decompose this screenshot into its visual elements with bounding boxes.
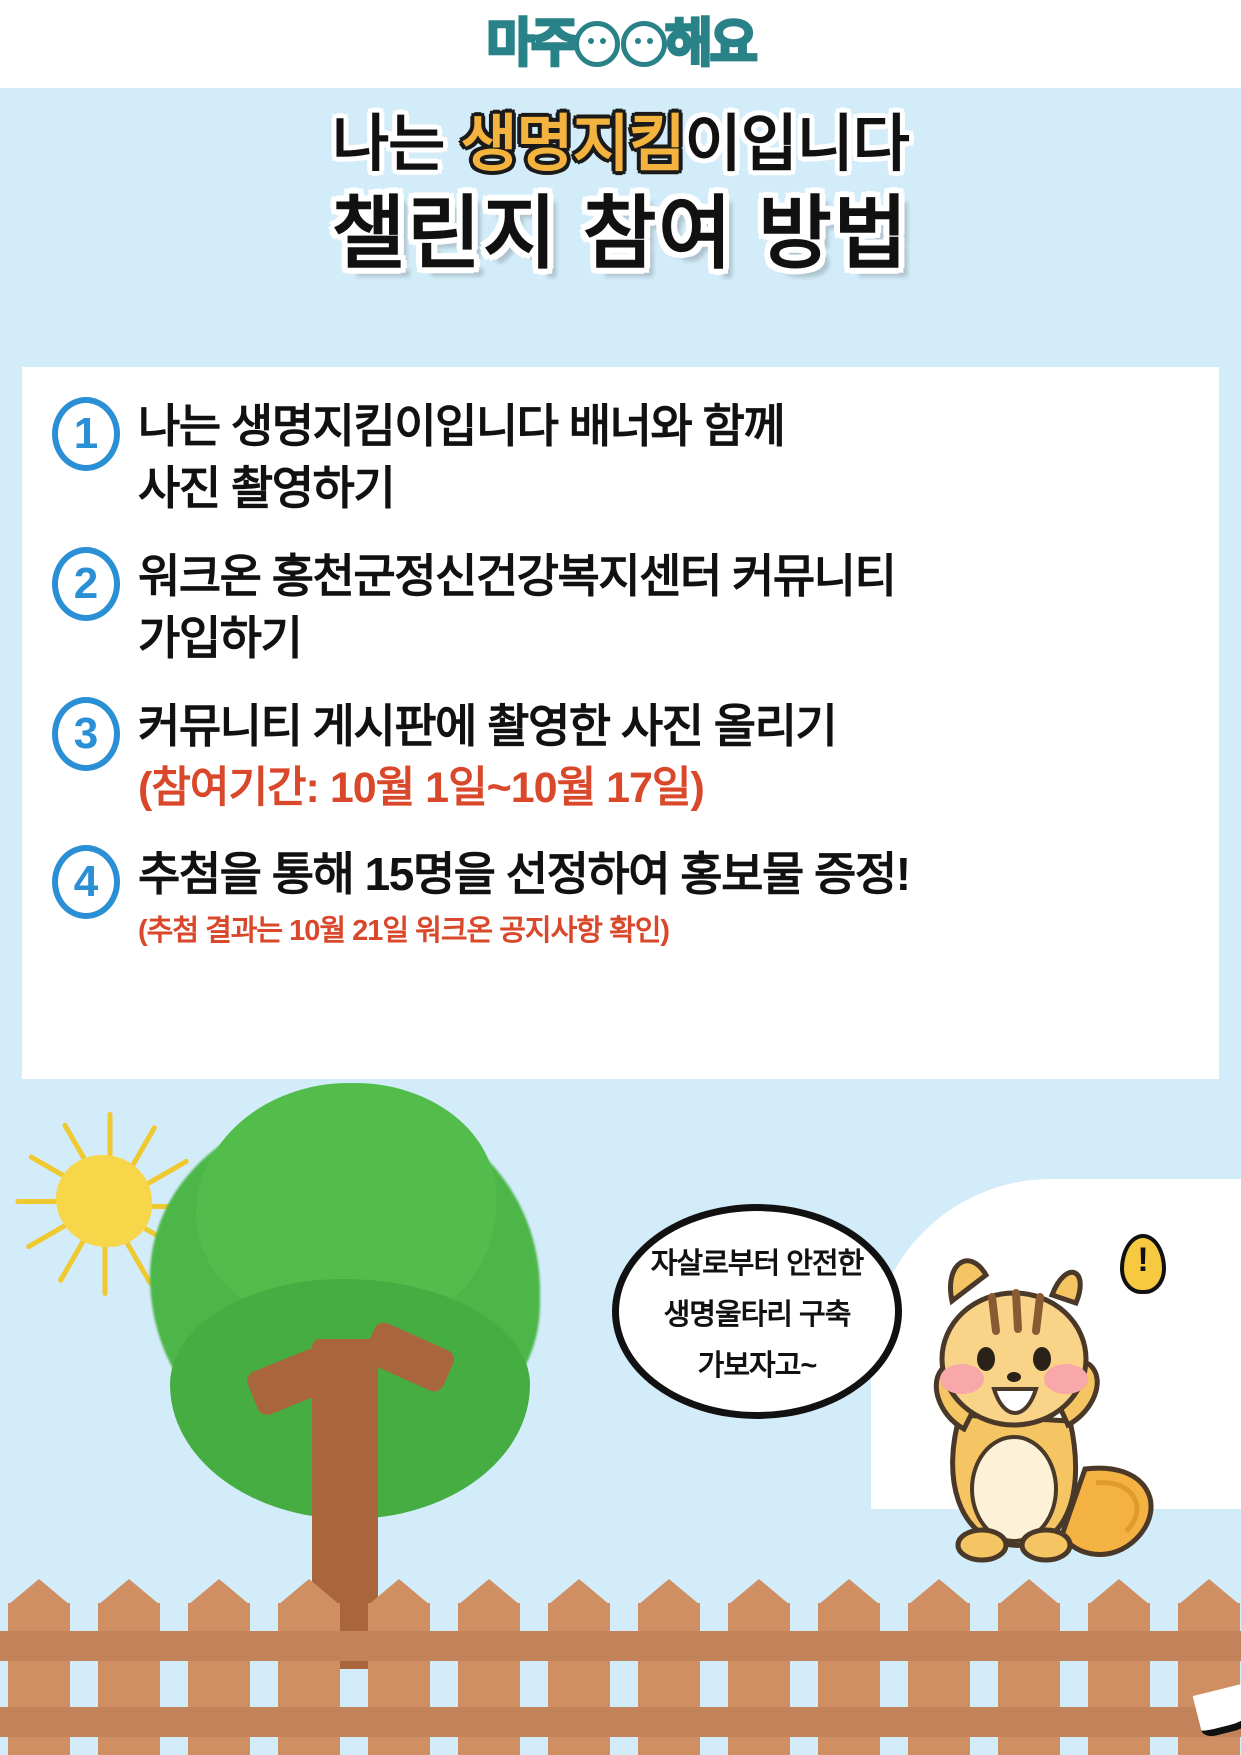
bubble-line-1: 자살로부터 안전한 <box>651 1240 864 1282</box>
step-number-badge: 1 <box>52 397 120 471</box>
step-number-badge: 4 <box>52 845 120 919</box>
smiley-face-icon <box>574 21 620 67</box>
fence-icon <box>0 1575 1241 1755</box>
logo-face-group <box>574 21 667 67</box>
headline-suffix: 이입니다 <box>685 110 909 179</box>
step-body: 추첨을 통해 15명을 선정하여 홍보물 증정! (추첨 결과는 10월 21일… <box>138 843 1189 951</box>
poster-headline: 나는 생명지킴이입니다 챌린지 참여 방법 <box>0 88 1241 282</box>
logo-strip: 마주 해요 <box>0 0 1241 88</box>
step-text-line-2: 사진 촬영하기 <box>138 457 1189 519</box>
step-text-line-1: 워크온 홍천군정신건강복지센터 커뮤니티 <box>138 545 1189 607</box>
step-body: 나는 생명지킴이입니다 배너와 함께 사진 촬영하기 <box>138 395 1189 519</box>
headline-line-2: 챌린지 참여 방법 <box>0 186 1241 282</box>
brand-logo: 마주 해요 <box>486 18 754 70</box>
step-number-badge: 3 <box>52 697 120 771</box>
steps-card: 1 나는 생명지킴이입니다 배너와 함께 사진 촬영하기 2 워크온 홍천군정신… <box>22 367 1219 1079</box>
step-item: 1 나는 생명지킴이입니다 배너와 함께 사진 촬영하기 <box>52 395 1189 519</box>
step-period-note: (참여기간: 10월 1일~10월 17일) <box>138 761 1189 817</box>
step-item: 4 추첨을 통해 15명을 선정하여 홍보물 증정! (추첨 결과는 10월 2… <box>52 843 1189 951</box>
step-body: 워크온 홍천군정신건강복지센터 커뮤니티 가입하기 <box>138 545 1189 669</box>
step-number-badge: 2 <box>52 547 120 621</box>
step-body: 커뮤니티 게시판에 촬영한 사진 올리기 (참여기간: 10월 1일~10월 1… <box>138 695 1189 817</box>
step-text-line-1: 커뮤니티 게시판에 촬영한 사진 올리기 <box>138 695 1189 757</box>
headline-prefix: 나는 <box>332 110 460 179</box>
step-result-note: (추첨 결과는 10월 21일 워크온 공지사항 확인) <box>138 913 1189 951</box>
illustration-scene: 자살로부터 안전한 생명울타리 구축 가보자고~ ! <box>0 1079 1241 1755</box>
exclamation-mark: ! <box>1124 1243 1162 1277</box>
smiley-face-icon <box>621 21 667 67</box>
speech-bubble: 자살로부터 안전한 생명울타리 구축 가보자고~ <box>612 1204 902 1419</box>
step-item: 3 커뮤니티 게시판에 촬영한 사진 올리기 (참여기간: 10월 1일~10월… <box>52 695 1189 817</box>
headline-line-1: 나는 생명지킴이입니다 <box>0 106 1241 184</box>
bubble-line-2: 생명울타리 구축 <box>664 1291 851 1333</box>
exclamation-icon: ! <box>1120 1234 1166 1306</box>
step-text-line-2: 가입하기 <box>138 607 1189 669</box>
step-item: 2 워크온 홍천군정신건강복지센터 커뮤니티 가입하기 <box>52 545 1189 669</box>
step-text-line-1: 추첨을 통해 15명을 선정하여 홍보물 증정! <box>138 843 1189 905</box>
headline-highlight: 생명지킴 <box>460 110 684 179</box>
step-text-line-1: 나는 생명지킴이입니다 배너와 함께 <box>138 395 1189 457</box>
logo-text-left: 마주 <box>486 18 576 70</box>
logo-text-right: 해요 <box>665 18 755 70</box>
bubble-line-3: 가보자고~ <box>698 1342 817 1384</box>
